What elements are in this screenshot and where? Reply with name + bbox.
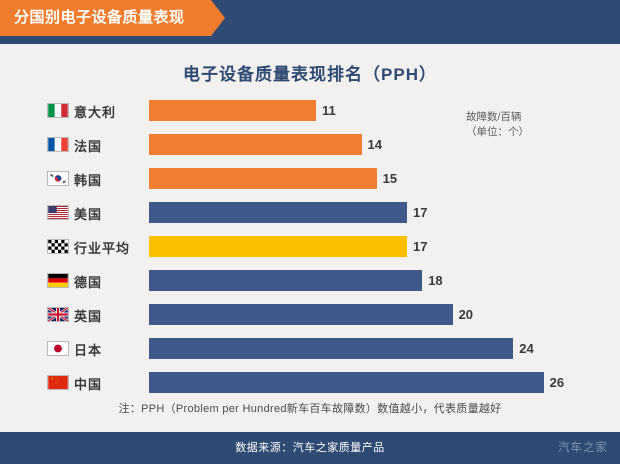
france-flag bbox=[47, 137, 69, 152]
chart-row: 意大利11 bbox=[0, 96, 620, 130]
category-label: 日本 bbox=[74, 340, 146, 359]
header-tag: 分国别电子设备质量表现 bbox=[0, 0, 211, 36]
bar-value-label: 17 bbox=[413, 239, 427, 254]
bar bbox=[149, 100, 316, 121]
chart-page: 分国别电子设备质量表现 电子设备质量表现排名（PPH） 故障数/百辆 （单位：个… bbox=[0, 0, 620, 464]
category-label: 意大利 bbox=[74, 102, 146, 121]
bar-value-label: 26 bbox=[550, 375, 564, 390]
bar-track: 15 bbox=[149, 168, 610, 189]
bar bbox=[149, 168, 377, 189]
bar-track: 17 bbox=[149, 236, 610, 257]
category-label: 行业平均 bbox=[74, 238, 146, 257]
bar-track: 26 bbox=[149, 372, 610, 393]
bar-value-label: 11 bbox=[322, 103, 336, 118]
bar bbox=[149, 304, 453, 325]
japan-flag bbox=[47, 341, 69, 356]
category-label: 韩国 bbox=[74, 170, 146, 189]
bar-track: 18 bbox=[149, 270, 610, 291]
bar-value-label: 20 bbox=[459, 307, 473, 322]
usa-flag bbox=[47, 205, 69, 220]
bar-value-label: 17 bbox=[413, 205, 427, 220]
bar-value-label: 24 bbox=[519, 341, 533, 356]
bar bbox=[149, 236, 407, 257]
bar-value-label: 18 bbox=[428, 273, 442, 288]
uk-flag bbox=[47, 307, 69, 322]
bar bbox=[149, 270, 422, 291]
category-label: 中国 bbox=[74, 374, 146, 393]
germany-flag bbox=[47, 273, 69, 288]
bar bbox=[149, 134, 362, 155]
bar bbox=[149, 202, 407, 223]
chart-row: 法国14 bbox=[0, 130, 620, 164]
category-label: 美国 bbox=[74, 204, 146, 223]
checkered-flag bbox=[47, 239, 69, 254]
bar-rows: 意大利11法国14韩国15美国17行业平均17德国18英国20日本24中国26 bbox=[0, 96, 620, 402]
footer-band: 数据来源：汽车之家质量产品 汽车之家 bbox=[0, 432, 620, 464]
chart-row: 英国20 bbox=[0, 300, 620, 334]
page-title: 电子设备质量表现排名（PPH） bbox=[0, 60, 620, 85]
bar-track: 14 bbox=[149, 134, 610, 155]
data-source-label: 数据来源：汽车之家质量产品 bbox=[0, 432, 620, 464]
category-label: 法国 bbox=[74, 136, 146, 155]
chart-row: 日本24 bbox=[0, 334, 620, 368]
chart-row: 行业平均17 bbox=[0, 232, 620, 266]
italy-flag bbox=[47, 103, 69, 118]
bar-value-label: 14 bbox=[368, 137, 382, 152]
chart-row: 中国26 bbox=[0, 368, 620, 402]
brand-watermark: 汽车之家 bbox=[558, 432, 608, 464]
china-flag bbox=[47, 375, 69, 390]
bar bbox=[149, 372, 544, 393]
chart-card: 电子设备质量表现排名（PPH） 故障数/百辆 （单位：个） 意大利11法国14韩… bbox=[0, 44, 620, 432]
bar-track: 17 bbox=[149, 202, 610, 223]
bar-track: 20 bbox=[149, 304, 610, 325]
south-korea-flag bbox=[47, 171, 69, 186]
bar-value-label: 15 bbox=[383, 171, 397, 186]
header-band: 分国别电子设备质量表现 bbox=[0, 0, 620, 44]
bar-track: 11 bbox=[149, 100, 610, 121]
chart-row: 美国17 bbox=[0, 198, 620, 232]
chart-footnote: 注：PPH（Problem per Hundred新车百车故障数）数值越小，代表… bbox=[0, 400, 620, 416]
bar-track: 24 bbox=[149, 338, 610, 359]
category-label: 德国 bbox=[74, 272, 146, 291]
bar bbox=[149, 338, 513, 359]
category-label: 英国 bbox=[74, 306, 146, 325]
chart-row: 韩国15 bbox=[0, 164, 620, 198]
chart-row: 德国18 bbox=[0, 266, 620, 300]
